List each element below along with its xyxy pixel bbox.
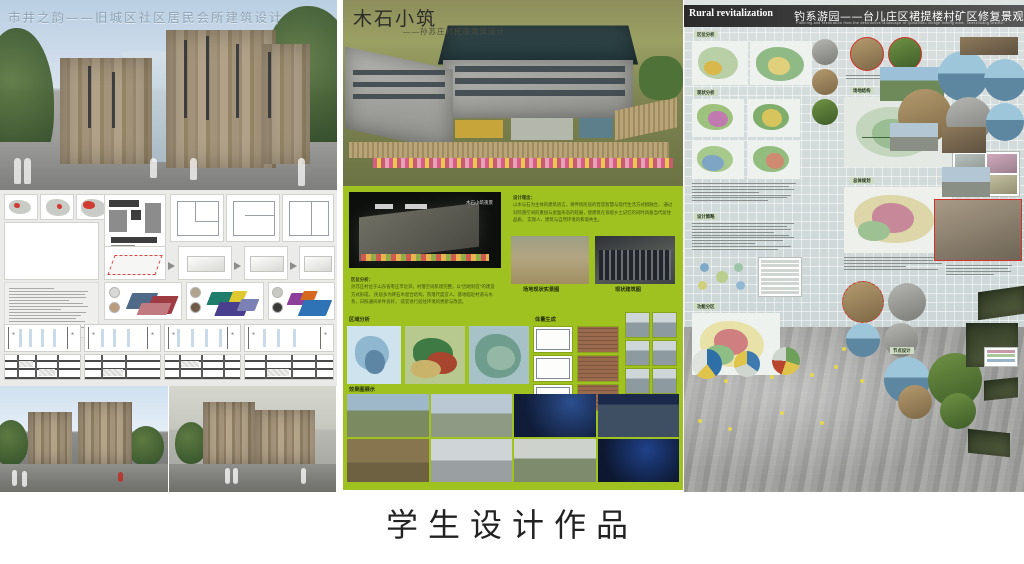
- landscape-photo-circle: [984, 59, 1024, 101]
- poster-panel-2[interactable]: 木石小筑 ——孙苏庄村民居建筑设计 木石小筑夜景 设计理念： 以木与石为主体的建…: [343, 0, 683, 490]
- massing-diagram-2: [186, 282, 264, 320]
- design-concept-text: 设计理念： 以木与石为主体的建筑语言，将传统民居的营造智慧与现代生活方式相融合，…: [511, 192, 675, 225]
- scale-figure: [150, 158, 157, 178]
- site-photo-circle: [812, 69, 838, 95]
- landscape-photo-circle: [938, 51, 988, 101]
- existing-building-caption: 现状建筑图: [615, 286, 641, 293]
- site-photo-circle: [812, 99, 838, 125]
- section-drawing: [4, 354, 81, 380]
- poster-panel-1[interactable]: 市井之韵——旧城区社区居民会所建筑设计: [0, 0, 337, 492]
- data-table: [758, 257, 802, 297]
- site-axonometric: [104, 246, 166, 280]
- panel2-subtitle: ——孙苏庄村民居建筑设计: [403, 26, 505, 37]
- render-thumb: [431, 394, 513, 437]
- elevation-thumb: [625, 368, 650, 394]
- massing-step: [244, 246, 288, 280]
- model-detail: [968, 429, 1010, 457]
- floor-plan: [282, 194, 334, 242]
- node-photo-circle: [898, 385, 932, 419]
- flow-arrow: [168, 262, 175, 270]
- map-legend: [984, 347, 1018, 367]
- bubble-diagram: [692, 259, 754, 295]
- panel3-body: 区位分析 现状分析: [684, 27, 1024, 492]
- render-grid: [347, 394, 679, 482]
- render-thumb: [347, 439, 429, 482]
- elevation-thumb: [625, 340, 650, 366]
- region-map-3: [469, 326, 529, 384]
- stone-volume-right: [166, 30, 276, 168]
- massing-generation-caption: 体量生成: [535, 316, 556, 323]
- landscape-photo-circle: [986, 103, 1024, 141]
- site-plan: [104, 194, 166, 252]
- analysis-text-1: [692, 183, 800, 203]
- strategy-title: 设计策略: [694, 213, 718, 220]
- region-map-2: [405, 326, 465, 384]
- thematic-map: [987, 154, 1017, 173]
- render-thumb: [347, 394, 429, 437]
- elevation-drawing: [244, 324, 334, 352]
- elevation-thumb: [625, 312, 650, 338]
- scale-figure: [14, 158, 21, 184]
- window-slit: [206, 36, 209, 120]
- scale-figure: [24, 158, 31, 184]
- existing-building-photo: [595, 236, 675, 284]
- plan-thumb: [533, 326, 573, 353]
- massing-step: [178, 246, 232, 280]
- panel3-header: Rural revitalization 钓系游园——台儿庄区裙提楼村矿区修复景…: [684, 5, 1024, 27]
- section-drawing: [84, 354, 161, 380]
- render-thumb: [514, 439, 596, 482]
- region-map-caption: 区域分析: [349, 316, 370, 323]
- night-interior-axonometric: 木石小筑夜景: [349, 192, 501, 268]
- panel3-subtitle-en: Planning and restoration from the destru…: [796, 21, 1004, 25]
- zoning-title: 功能分区: [694, 303, 718, 310]
- analysis-map-2: [748, 99, 800, 137]
- panel3-title-en: Rural revitalization: [689, 8, 773, 19]
- material-thumb: [577, 326, 619, 353]
- elevation-thumb: [652, 368, 677, 394]
- window-slit: [268, 52, 271, 118]
- analysis-map-1: [692, 99, 744, 137]
- site-photo-circle: [812, 39, 838, 65]
- panel2-body: 木石小筑夜景 设计理念： 以木与石为主体的建筑语言，将传统民居的营造智慧与现代生…: [343, 186, 683, 490]
- poster-panel-3[interactable]: Rural revitalization 钓系游园——台儿庄区裙提楼村矿区修复景…: [684, 0, 1024, 492]
- panel1-bottom-renderings: [0, 386, 337, 492]
- node-design-title: 节点设计: [890, 347, 914, 354]
- analysis-map-4: [748, 141, 800, 179]
- section-drawing: [244, 354, 334, 380]
- interior-rendering: [4, 222, 99, 280]
- site-photo-circle-highlight: [888, 37, 922, 71]
- window-slit: [236, 44, 239, 118]
- model-detail: [984, 377, 1018, 401]
- panel1-hero-rendering: 市井之韵——旧城区社区居民会所建筑设计: [0, 0, 337, 190]
- plan-structure-title: 总体规划: [850, 177, 874, 184]
- detail-photo-circle: [842, 281, 884, 323]
- location-map-thumb: [4, 194, 38, 220]
- panel1-title: 市井之韵——旧城区社区居民会所建筑设计: [8, 7, 284, 26]
- pie-chart: [692, 349, 722, 379]
- region-map-1: [347, 326, 401, 384]
- site-structure-title: 场地结构: [850, 87, 874, 94]
- elevation-drawing: [84, 324, 161, 352]
- site-photo-caption: 场地现状实景图: [523, 286, 559, 293]
- elevation-row: [4, 324, 334, 352]
- panel1-worksheet: [0, 190, 337, 382]
- site-photo: [890, 123, 938, 151]
- context-analysis-text: 区位分析： 孙苏庄村位于山东省枣庄市近郊，村落空间肌理完整，以"因地制宜"的建造…: [349, 274, 499, 307]
- panel2-hero-aerial-rendering: 木石小筑 ——孙苏庄村民居建筑设计: [343, 0, 683, 186]
- slide-canvas: 市井之韵——旧城区社区居民会所建筑设计: [0, 0, 1024, 564]
- elevation-thumb: [652, 340, 677, 366]
- thematic-map: [987, 175, 1017, 194]
- section-row: [4, 354, 334, 380]
- location-map-province: [692, 41, 748, 85]
- window-slit: [112, 72, 115, 128]
- pie-chart: [772, 347, 800, 375]
- render-thumb: [431, 439, 513, 482]
- planning-text: [844, 257, 948, 271]
- elevation-drawing: [4, 324, 81, 352]
- flow-arrow: [234, 262, 241, 270]
- location-map-thumb: [40, 194, 74, 220]
- elevation-thumb: [652, 312, 677, 338]
- node-photo-circle: [940, 393, 976, 429]
- render-grid-caption: 效果图展示: [349, 386, 375, 393]
- detail-photo-circle: [888, 283, 926, 321]
- restoration-photo: [942, 167, 990, 197]
- render-thumb: [514, 394, 596, 437]
- window-slit: [88, 66, 91, 128]
- elevation-drawing: [164, 324, 241, 352]
- restoration-text: [946, 265, 1018, 277]
- floor-plan: [170, 194, 224, 242]
- analysis-map-3: [692, 141, 744, 179]
- material-thumb: [577, 355, 619, 382]
- render-thumb: [598, 439, 680, 482]
- aerial-model-view: [978, 286, 1024, 320]
- flow-arrow: [290, 262, 297, 270]
- stone-volume-left: [60, 58, 152, 164]
- location-section-title: 区位分析: [694, 31, 718, 38]
- pie-chart: [734, 351, 760, 377]
- window-slit: [184, 40, 187, 118]
- site-photo: [942, 127, 986, 153]
- regional-analysis-title: 现状分析: [694, 89, 718, 96]
- section-drawing: [164, 354, 241, 380]
- render-thumb: [598, 394, 680, 437]
- detail-photo-circle: [846, 323, 880, 357]
- context-photo: [960, 37, 1018, 55]
- analysis-text-2: [692, 223, 800, 252]
- massing-diagram-3: [268, 282, 335, 320]
- massing-step: [299, 246, 335, 280]
- site-photo-forest: [511, 236, 589, 284]
- exterior-rendering-left: [0, 386, 169, 492]
- scale-figure: [190, 158, 197, 180]
- plan-thumb: [533, 355, 573, 382]
- floor-plan: [226, 194, 280, 242]
- elevation-thumbnails: [625, 312, 677, 394]
- restoration-photo-highlight: [934, 199, 1022, 261]
- exterior-rendering-right: [169, 386, 338, 492]
- site-photo-circle-highlight: [850, 37, 884, 71]
- massing-diagram-1: [104, 282, 182, 320]
- location-map-region: [750, 41, 812, 85]
- slide-caption: 学生设计作品: [0, 500, 1024, 546]
- scale-figure: [298, 158, 305, 186]
